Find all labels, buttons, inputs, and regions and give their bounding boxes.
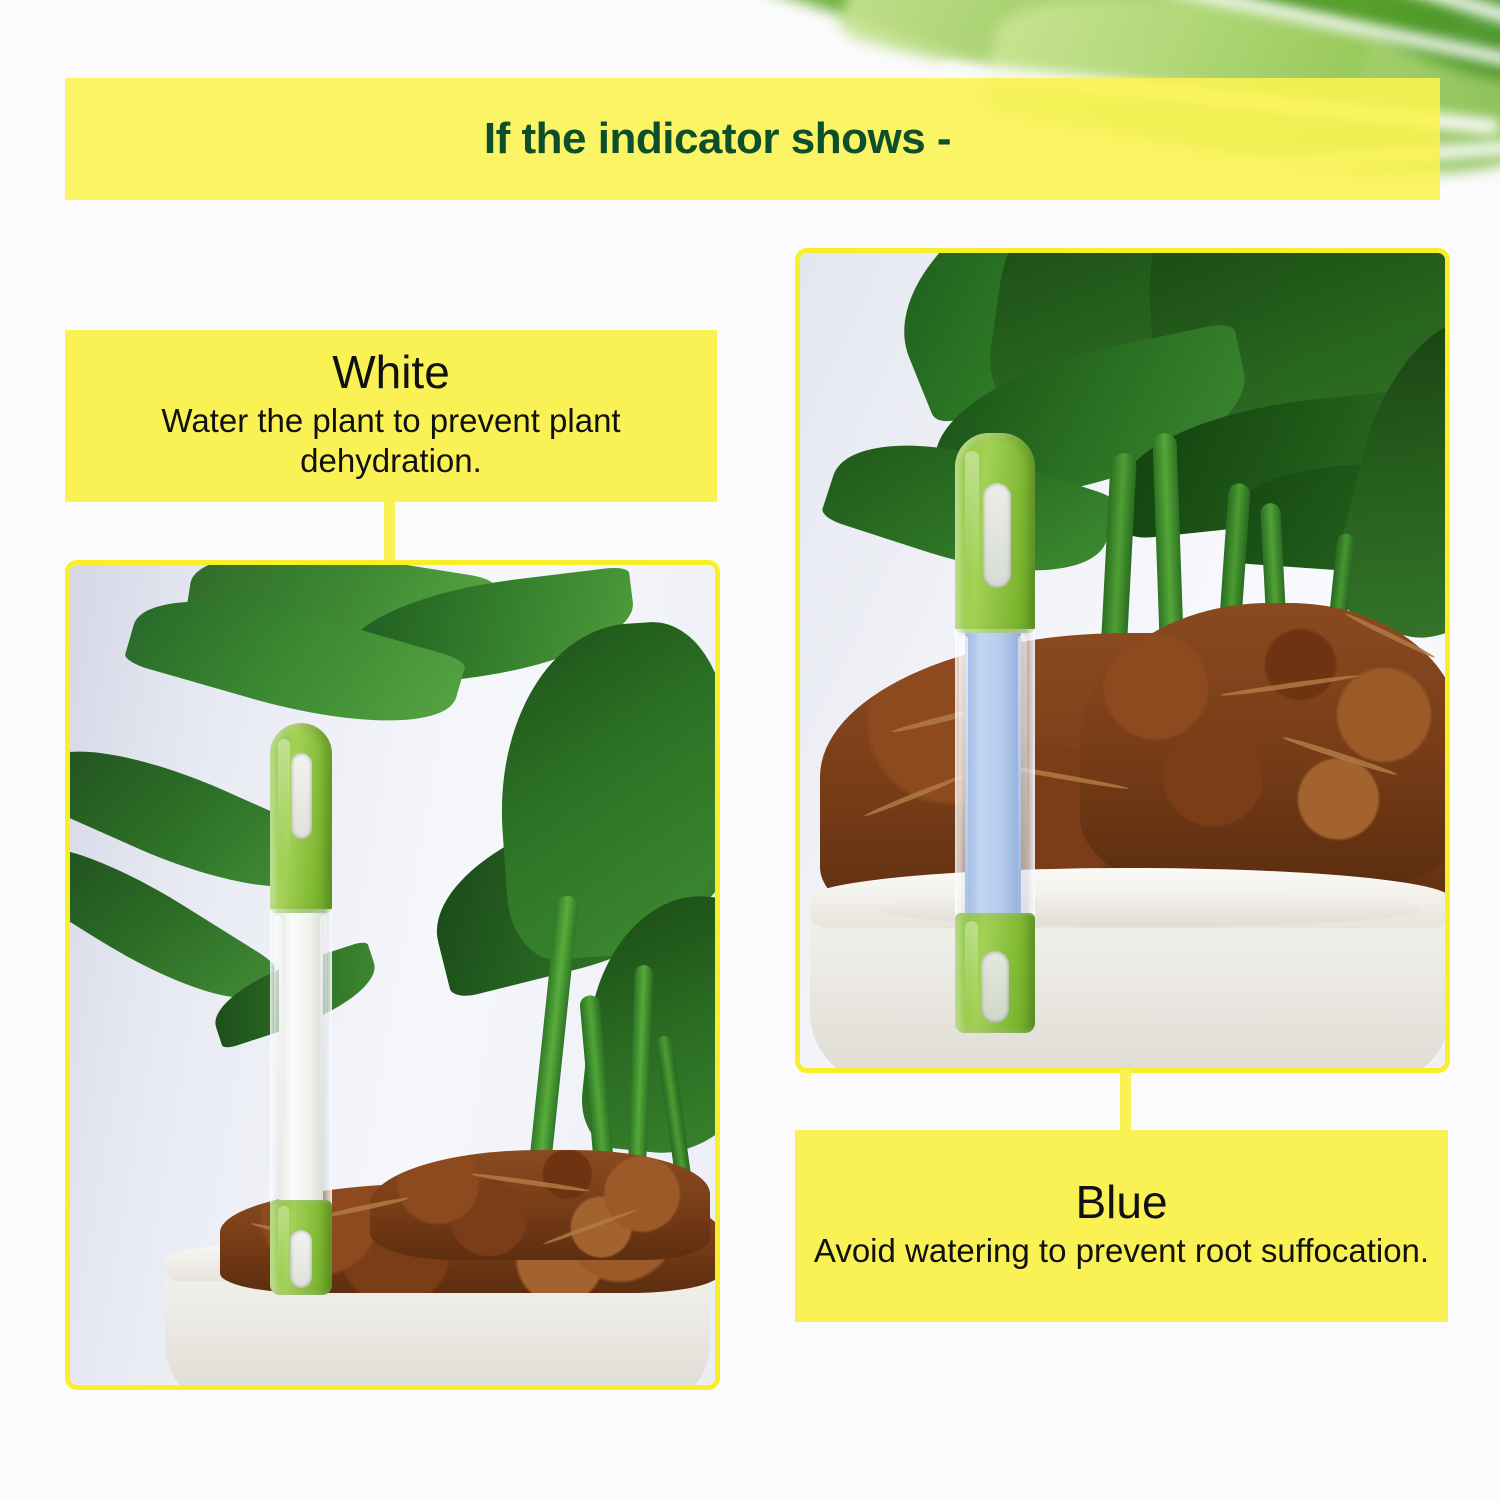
white-indicator-photo xyxy=(65,560,720,1390)
white-moisture-indicator xyxy=(270,723,332,1295)
white-connector-line xyxy=(384,498,395,564)
blue-title: Blue xyxy=(1075,1179,1167,1225)
infographic-canvas: If the indicator shows - White Water the… xyxy=(0,0,1500,1500)
page-title: If the indicator shows - xyxy=(484,114,951,164)
blue-label-card: Blue Avoid watering to prevent root suff… xyxy=(795,1130,1448,1322)
blue-moisture-indicator xyxy=(955,433,1035,1033)
white-title: White xyxy=(332,349,450,395)
blue-connector-line xyxy=(1120,1070,1131,1134)
blue-indicator-photo xyxy=(795,248,1450,1073)
blue-description: Avoid watering to prevent root suffocati… xyxy=(814,1231,1429,1271)
white-label-card: White Water the plant to prevent plant d… xyxy=(65,330,717,502)
white-description: Water the plant to prevent plant dehydra… xyxy=(83,401,699,482)
header-banner: If the indicator shows - xyxy=(65,78,1440,200)
